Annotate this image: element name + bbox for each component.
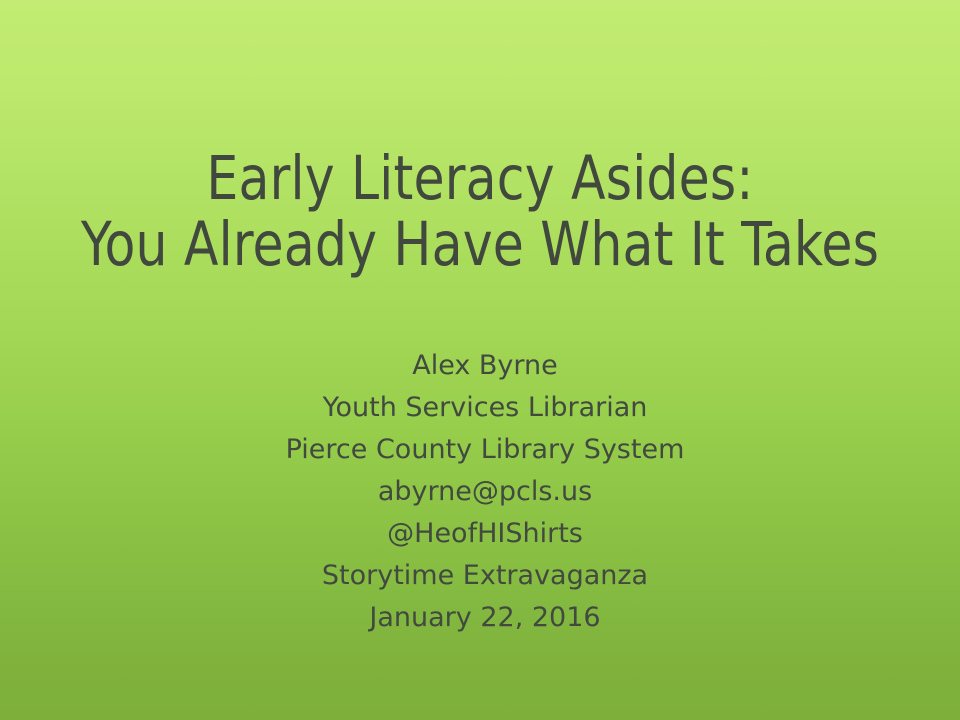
slide-title-line-2: You Already Have What It Takes xyxy=(38,212,921,278)
slide-subtitle: Alex Byrne Youth Services Librarian Pier… xyxy=(0,345,960,639)
slide-title: Early Literacy Asides: You Already Have … xyxy=(0,146,960,278)
presenter-name: Alex Byrne xyxy=(10,345,960,387)
slide-title-line-1: Early Literacy Asides: xyxy=(38,146,921,212)
event-name: Storytime Extravaganza xyxy=(10,555,960,597)
presentation-slide: Early Literacy Asides: You Already Have … xyxy=(0,0,960,720)
presenter-organization: Pierce County Library System xyxy=(10,429,960,471)
presenter-email: abyrne@pcls.us xyxy=(10,471,960,513)
event-date: January 22, 2016 xyxy=(10,597,960,639)
presenter-social-handle: @HeofHIShirts xyxy=(10,513,960,555)
presenter-job-title: Youth Services Librarian xyxy=(10,387,960,429)
